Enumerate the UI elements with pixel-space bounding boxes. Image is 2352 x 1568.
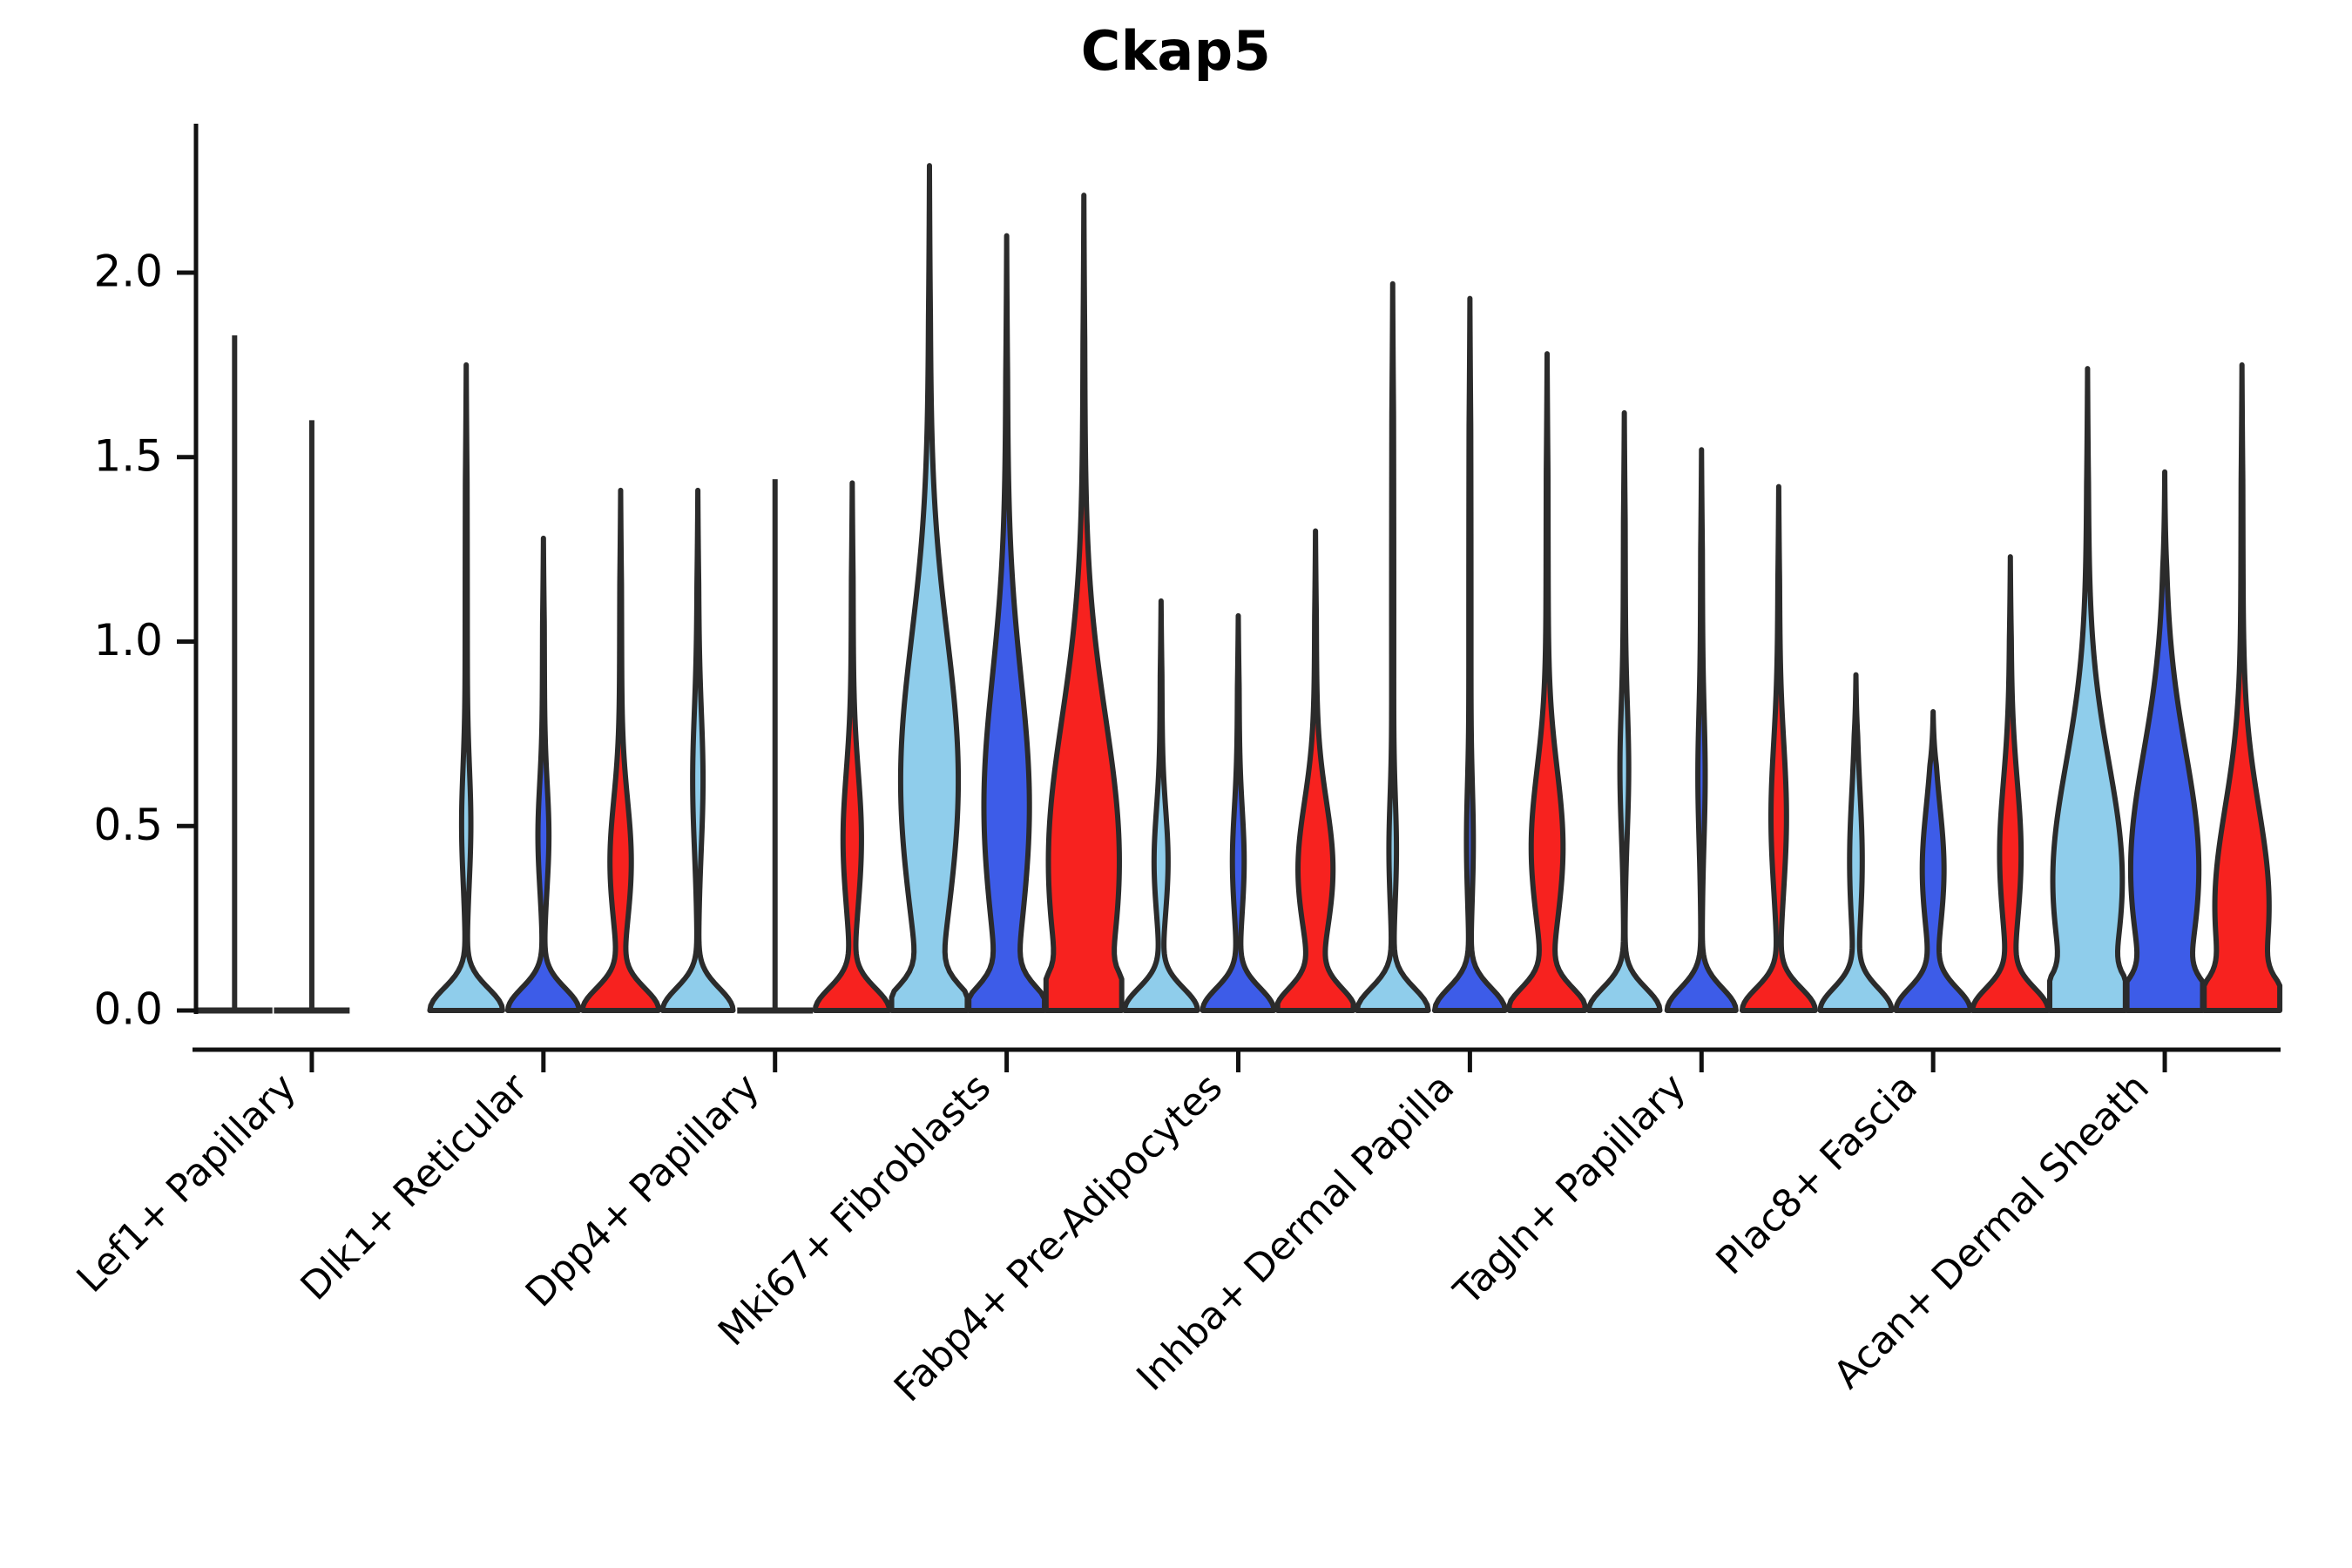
violin-light-blue-4	[892, 166, 968, 1010]
violin-red-5	[1278, 531, 1354, 1010]
violin-red-3	[815, 483, 889, 1010]
violin-body	[1972, 557, 2048, 1010]
y-tick-label: 0.0	[93, 984, 163, 1035]
violin-red-4	[1046, 195, 1122, 1010]
violin-blue-1	[274, 420, 350, 1010]
violin-body	[1742, 487, 1815, 1010]
violin-body	[1357, 284, 1429, 1010]
violin-body	[1435, 299, 1505, 1010]
violin-red-8	[1972, 557, 2048, 1010]
violin-light-blue-2	[429, 365, 502, 1010]
violin-red-6	[1510, 354, 1585, 1010]
violin-red-9	[2204, 365, 2280, 1010]
violin-body	[1896, 712, 1970, 1010]
violin-blue-4	[969, 236, 1044, 1010]
violin-light-blue-5	[1125, 601, 1198, 1010]
plot-canvas: 0.00.51.01.52.0 Lef1+ PapillaryDlk1+ Ret…	[0, 0, 2352, 1568]
violin-light-blue-8	[1821, 675, 1892, 1010]
violin-blue-3	[737, 479, 813, 1010]
violin-body	[815, 483, 889, 1010]
violin-light-blue-3	[663, 490, 733, 1010]
x-tick-labels-layer: Lef1+ PapillaryDlk1+ ReticularDpp4+ Papi…	[69, 1064, 2158, 1410]
violin-body	[2127, 472, 2203, 1010]
y-tick-label: 2.0	[93, 247, 163, 297]
violin-body	[1125, 601, 1198, 1010]
violin-blue-7	[1667, 449, 1736, 1010]
violin-body	[1821, 675, 1892, 1010]
violin-body	[508, 538, 579, 1010]
violin-body	[1589, 413, 1660, 1010]
violin-red-7	[1742, 487, 1815, 1010]
x-tick-label: Dlk1+ Reticular	[293, 1064, 537, 1309]
violin-blue-8	[1896, 712, 1970, 1010]
axes-layer	[177, 124, 2281, 1072]
y-tick-label: 0.5	[93, 800, 163, 850]
violin-body	[1046, 195, 1122, 1010]
violin-blue-9	[2127, 472, 2203, 1010]
violin-blue-2	[508, 538, 579, 1010]
x-tick-label: Lef1+ Papillary	[69, 1065, 305, 1301]
violin-plot-figure: Ckap5 Expression Level 0.00.51.01.52.0 L…	[0, 0, 2352, 1568]
violins-layer	[197, 166, 2280, 1010]
violin-body	[2050, 368, 2126, 1010]
y-tick-label: 1.5	[93, 430, 163, 481]
violin-red-2	[583, 490, 659, 1010]
violin-body	[969, 236, 1044, 1010]
violin-body	[429, 365, 502, 1010]
violin-body	[663, 490, 733, 1010]
violin-light-blue-1	[197, 335, 273, 1010]
violin-light-blue-7	[1589, 413, 1660, 1010]
violin-body	[1510, 354, 1585, 1010]
violin-blue-5	[1203, 616, 1274, 1010]
violin-blue-6	[1435, 299, 1505, 1010]
y-tick-label: 1.0	[93, 615, 163, 666]
violin-body	[583, 490, 659, 1010]
violin-body	[1667, 449, 1736, 1010]
violin-body	[2204, 365, 2280, 1010]
y-tick-labels-layer: 0.00.51.01.52.0	[93, 247, 163, 1035]
violin-body	[892, 166, 968, 1010]
x-tick-label: Dpp4+ Papillary	[517, 1065, 768, 1316]
violin-body	[1278, 531, 1354, 1010]
x-tick-label: Tagln+ Papillary	[1445, 1065, 1694, 1315]
violin-light-blue-6	[1357, 284, 1429, 1010]
violin-light-blue-9	[2050, 368, 2126, 1010]
violin-body	[1203, 616, 1274, 1010]
x-tick-label: Plac8+ Fascia	[1707, 1065, 1926, 1284]
